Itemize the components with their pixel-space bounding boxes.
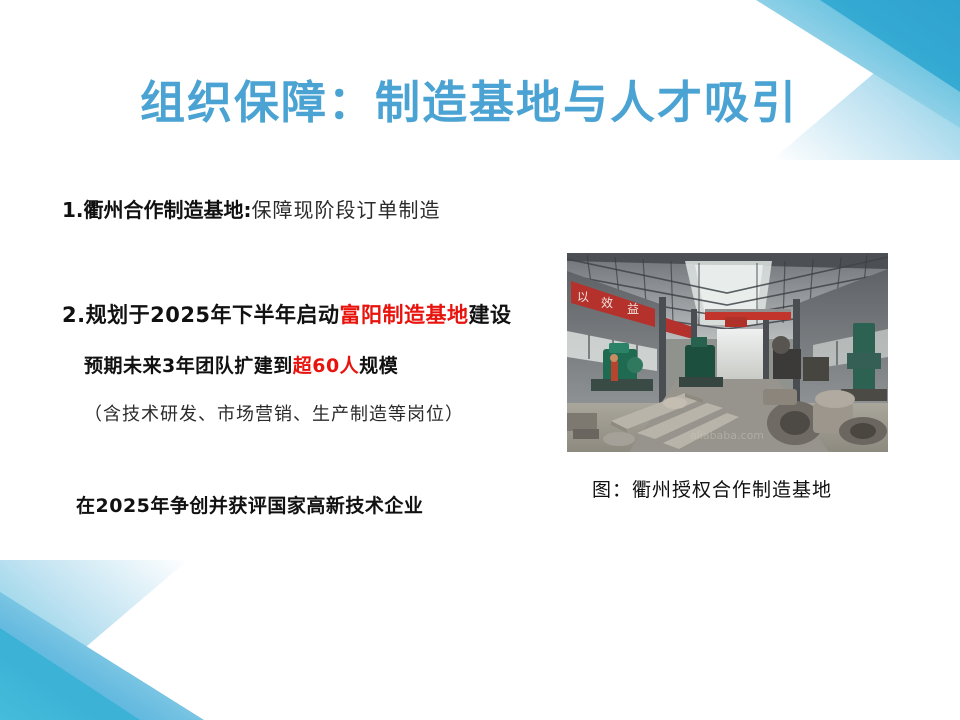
bullet-2-prefix: 2.规划于2025年下半年启动 bbox=[62, 303, 340, 327]
bullet-line-5: 在2025年争创并获评国家高新技术企业 bbox=[76, 491, 423, 518]
bullet-3-suffix: 规模 bbox=[359, 355, 398, 377]
svg-text:效: 效 bbox=[601, 295, 613, 310]
slide-canvas: 组织保障：制造基地与人才吸引 1.衢州合作制造基地:保障现阶段订单制造 2.规划… bbox=[0, 0, 960, 720]
svg-text:益: 益 bbox=[627, 302, 639, 316]
svg-text:以: 以 bbox=[577, 290, 589, 304]
bullet-line-1: 1.衢州合作制造基地:保障现阶段订单制造 bbox=[62, 194, 441, 223]
bullet-1-description: 保障现阶段订单制造 bbox=[252, 198, 441, 222]
bullet-2-suffix: 建设 bbox=[469, 303, 512, 327]
bullet-1-label: 1.衢州合作制造基地: bbox=[62, 198, 252, 222]
bullet-line-4-note: （含技术研发、市场营销、生产制造等岗位） bbox=[84, 400, 464, 426]
bullet-2-highlight: 富阳制造基地 bbox=[340, 303, 469, 327]
bullet-3-prefix: 预期未来3年团队扩建到 bbox=[84, 355, 293, 377]
factory-photo: 以 效 益 bbox=[567, 253, 888, 452]
photo-caption: 图：衢州授权合作制造基地 bbox=[592, 475, 832, 502]
bullet-line-2: 2.规划于2025年下半年启动富阳制造基地建设 bbox=[62, 299, 512, 329]
bullet-line-3: 预期未来3年团队扩建到超60人规模 bbox=[84, 351, 398, 378]
bullet-3-highlight: 超60人 bbox=[293, 355, 359, 377]
svg-text:aliababa.com: aliababa.com bbox=[690, 429, 764, 442]
